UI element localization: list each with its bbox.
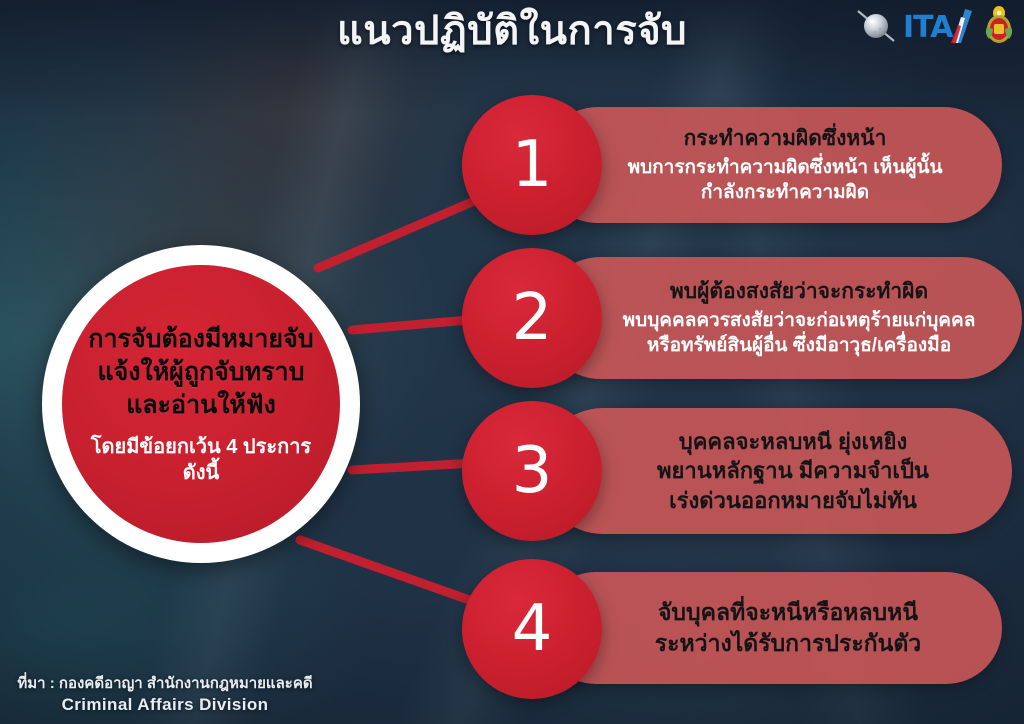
central-hub: การจับต้องมีหมายจับ แจ้งให้ผู้ถูกจับทราบ… [42,245,360,563]
step-2-body: พบบุคคลควรสงสัยว่าจะก่อเหตุร้ายแก่บุคคล … [623,308,976,358]
step-item-4[interactable]: จับบุคลที่จะหนีหรือหลบหนี ระหว่างได้รับก… [462,558,1022,700]
step-item-1[interactable]: กระทำความผิดซึ่งหน้า พบการกระทำความผิดซึ… [462,95,1002,235]
central-hub-sub-text: โดยมีข้อยกเว้น 4 ประการ ดังนี้ [91,434,311,486]
step-1-pill: กระทำความผิดซึ่งหน้า พบการกระทำความผิดซึ… [540,107,1002,223]
step-3-body-line: บุคคลจะหลบหนี ยุ่งเหยิง [657,427,929,456]
footer-source-th: ที่มา : กองคดีอาญา สำนักงานกฎหมายและคดี [0,675,330,694]
ita-logo-icon: ITA [903,5,977,47]
step-1-body-line: พบการกระทำความผิดซึ่งหน้า เห็นผู้นั้น [628,155,943,180]
logo-cluster: ITA [854,4,1016,48]
hub-main-line: แจ้งให้ผู้ถูกจับทราบ [88,356,313,389]
step-1-body: พบการกระทำความผิดซึ่งหน้า เห็นผู้นั้น กำ… [628,155,943,205]
step-4-body-line: ระหว่างได้รับการประกันตัว [655,628,921,659]
step-3-number-badge: 3 [462,401,602,541]
footer-source: ที่มา : กองคดีอาญา สำนักงานกฎหมายและคดี … [0,675,330,716]
thai-emblem-logo-icon [982,5,1016,47]
hub-sub-line: ดังนี้ [91,460,311,486]
infographic-canvas: แนวปฏิบัติในการจับ ITA [0,0,1024,724]
svg-text:ITA: ITA [903,10,954,45]
central-hub-main-text: การจับต้องมีหมายจับ แจ้งให้ผู้ถูกจับทราบ… [88,323,313,422]
step-1-number-badge: 1 [462,95,602,235]
footer-source-en: Criminal Affairs Division [0,694,330,716]
step-item-2[interactable]: พบผู้ต้องสงสัยว่าจะกระทำผิด พบบุคคลควรสง… [462,247,1022,389]
hub-sub-line: โดยมีข้อยกเว้น 4 ประการ [91,434,311,460]
step-4-pill: จับบุคลที่จะหนีหรือหลบหนี ระหว่างได้รับก… [540,572,1002,684]
sphere-globe-logo-icon [854,5,898,47]
hub-main-line: และอ่านให้ฟัง [88,389,313,422]
central-hub-inner: การจับต้องมีหมายจับ แจ้งให้ผู้ถูกจับทราบ… [62,265,340,543]
header: แนวปฏิบัติในการจับ ITA [0,0,1024,70]
step-1-body-line: กำลังกระทำความผิด [628,180,943,205]
step-3-body: บุคคลจะหลบหนี ยุ่งเหยิง พยานหลักฐาน มีคว… [657,427,929,515]
step-3-pill: บุคคลจะหลบหนี ยุ่งเหยิง พยานหลักฐาน มีคว… [540,408,1012,534]
step-3-body-line: พยานหลักฐาน มีความจำเป็น [657,456,929,485]
step-2-heading: พบผู้ต้องสงสัยว่าจะกระทำผิด [670,278,928,305]
hub-main-line: การจับต้องมีหมายจับ [88,323,313,356]
step-4-number-badge: 4 [462,559,602,699]
step-2-number-badge: 2 [462,248,602,388]
step-4-body: จับบุคลที่จะหนีหรือหลบหนี ระหว่างได้รับก… [655,597,921,660]
step-1-heading: กระทำความผิดซึ่งหน้า [684,125,887,152]
step-item-3[interactable]: บุคคลจะหลบหนี ยุ่งเหยิง พยานหลักฐาน มีคว… [462,400,1022,542]
step-2-body-line: พบบุคคลควรสงสัยว่าจะก่อเหตุร้ายแก่บุคคล [623,308,976,333]
step-2-pill: พบผู้ต้องสงสัยว่าจะกระทำผิด พบบุคคลควรสง… [540,257,1022,379]
step-3-body-line: เร่งด่วนออกหมายจับไม่ทัน [657,486,929,515]
step-2-body-line: หรือทรัพย์สินผู้อื่น ซึ่งมีอาวุธ/เครื่อง… [623,333,976,358]
step-4-body-line: จับบุคลที่จะหนีหรือหลบหนี [655,597,921,628]
